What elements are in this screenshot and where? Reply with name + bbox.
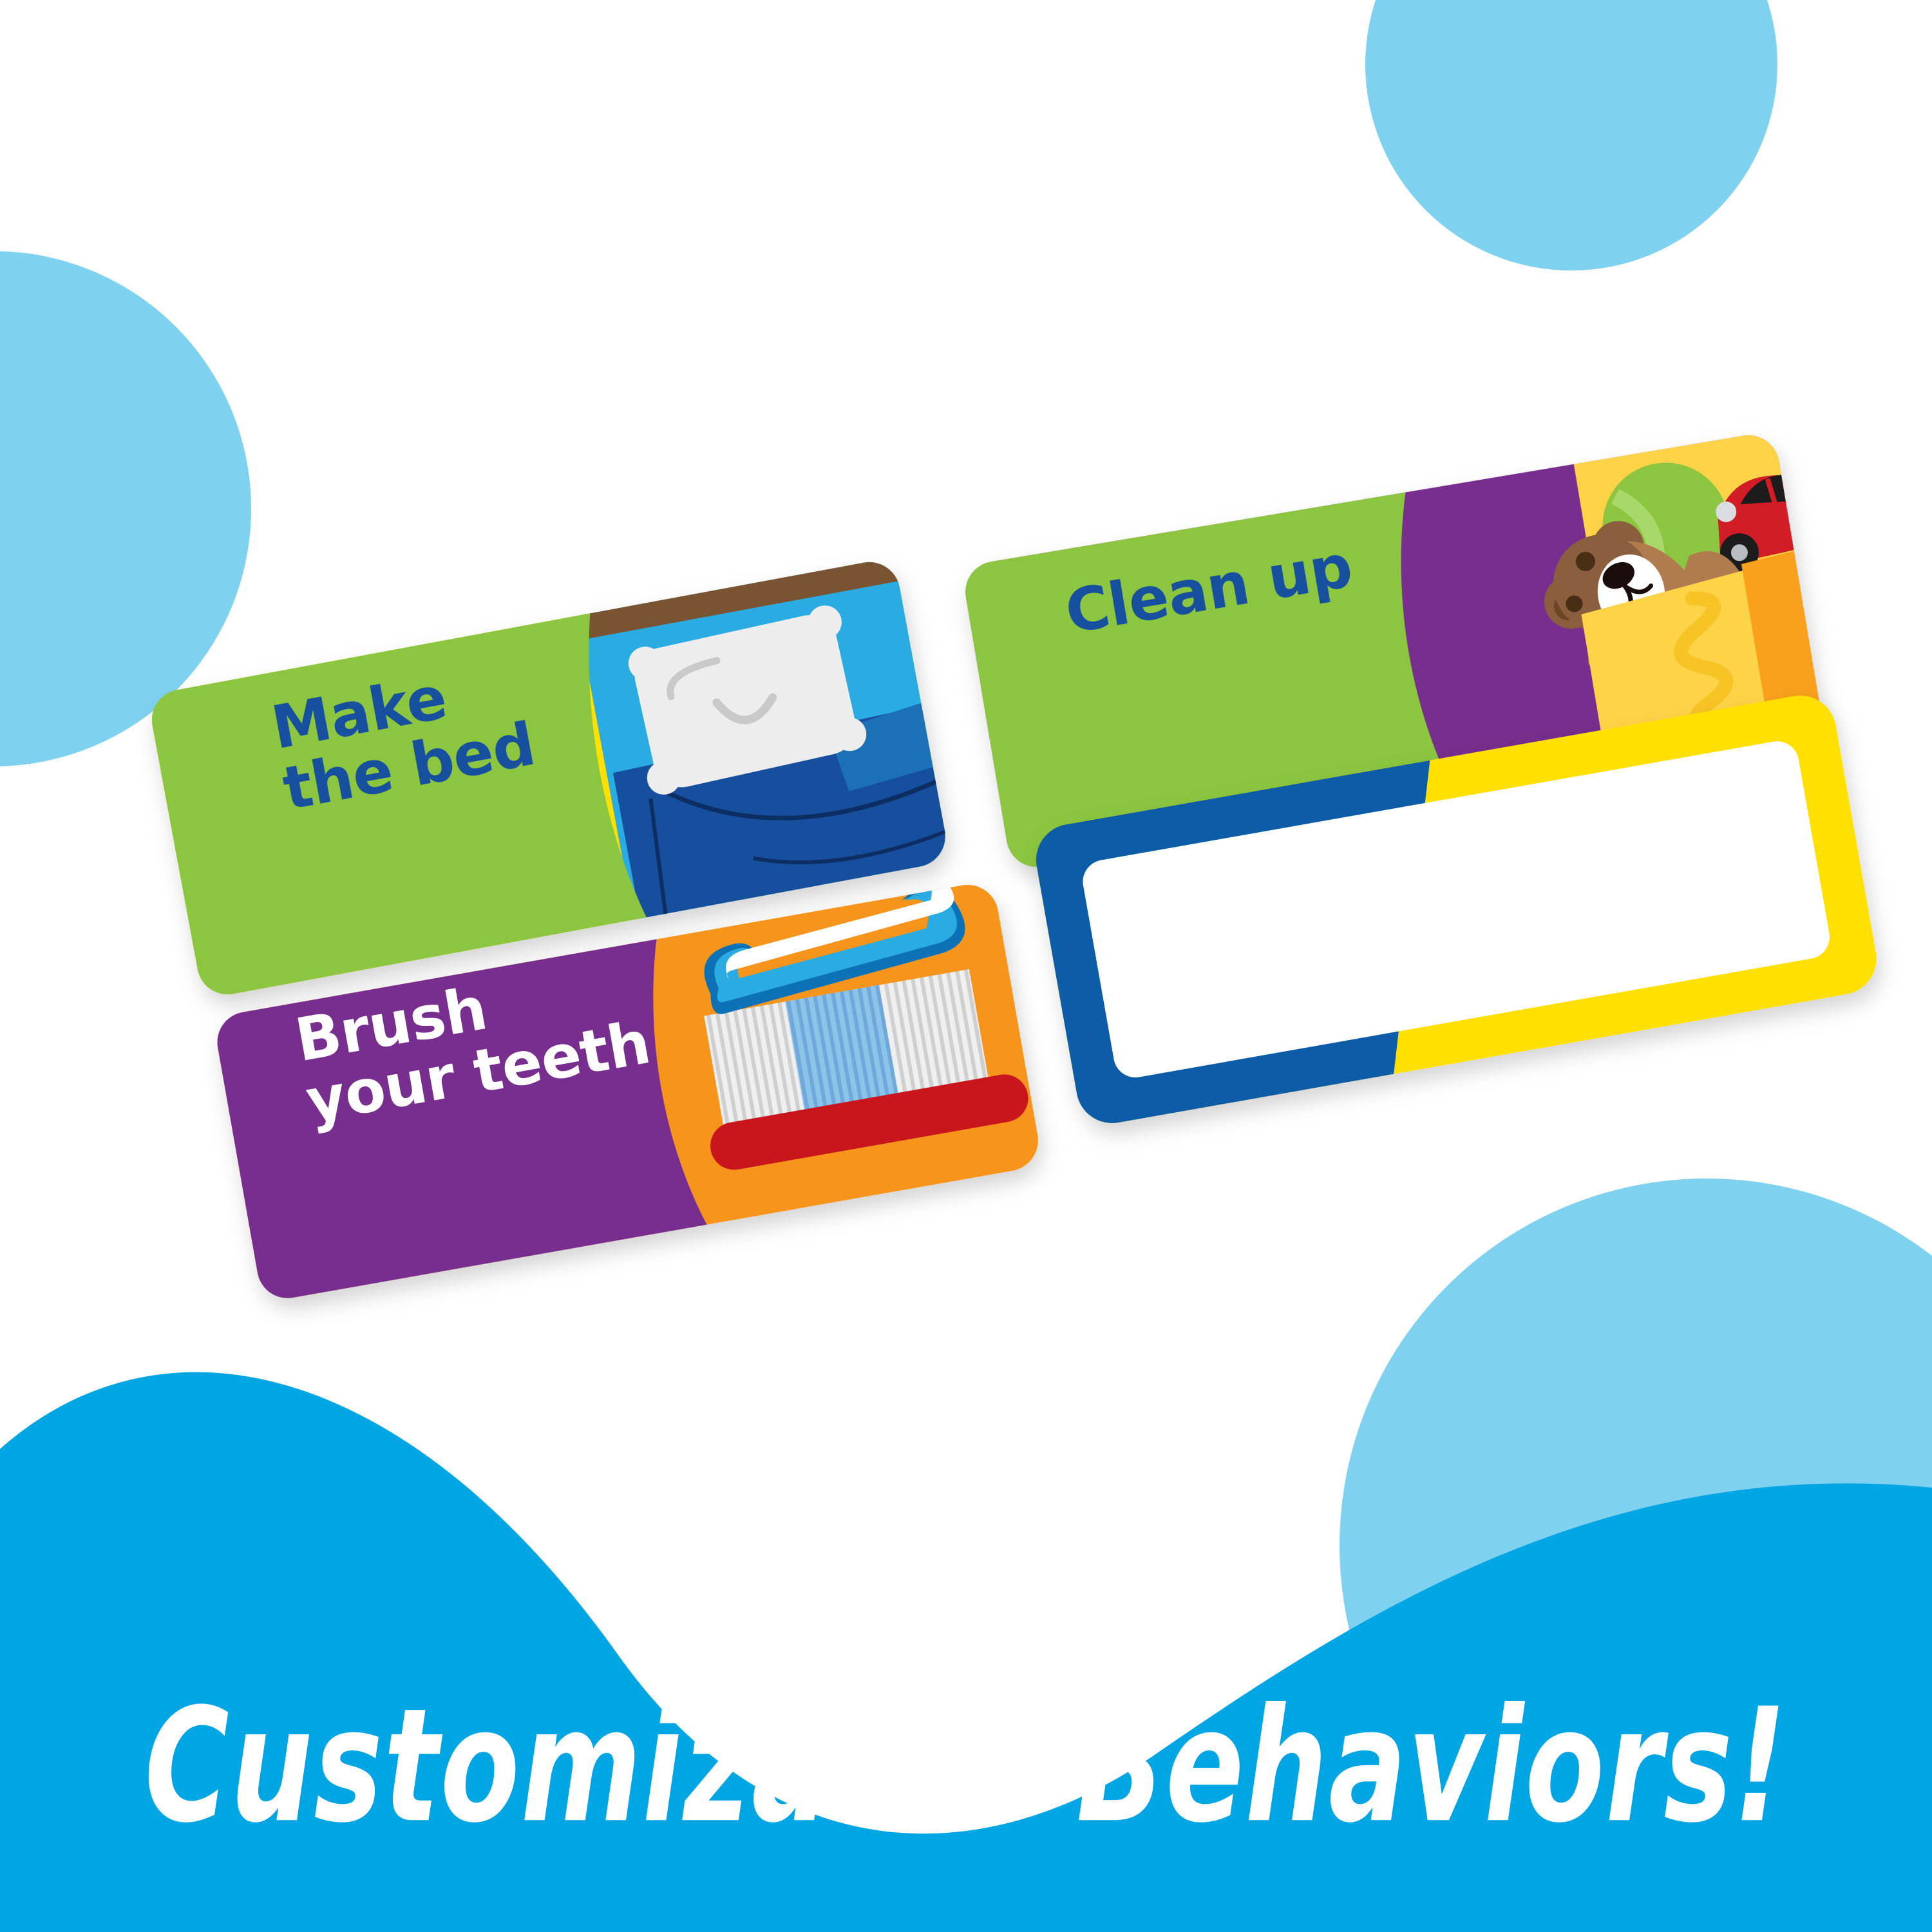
- card-text-panel: [213, 939, 707, 1303]
- behavior-cards-group: [0, 0, 1932, 1932]
- poster-canvas: Make the bed Clean up Brush your teeth C…: [0, 0, 1932, 1932]
- card-text-panel: [147, 613, 647, 999]
